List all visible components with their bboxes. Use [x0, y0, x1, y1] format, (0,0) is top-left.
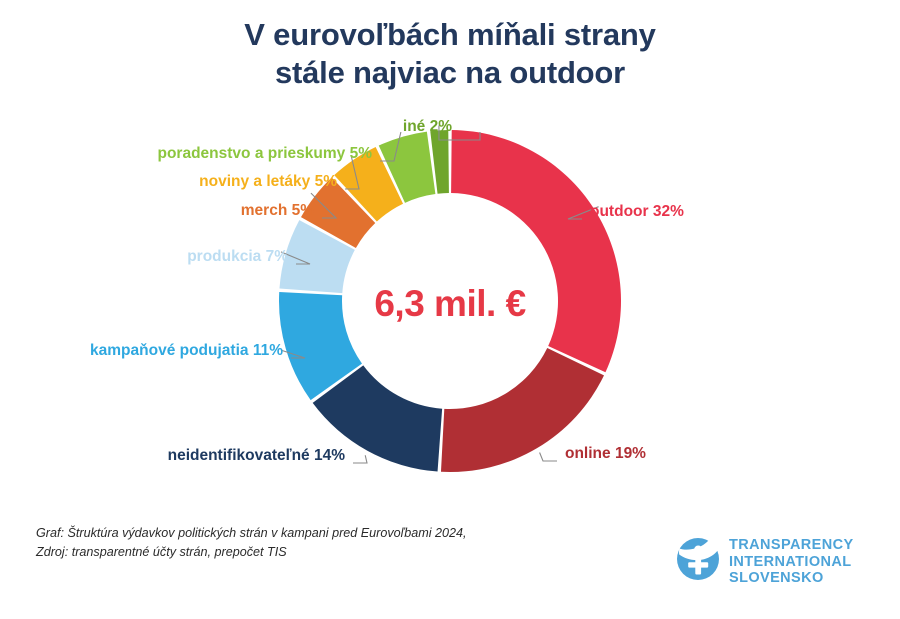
leader-line — [540, 452, 557, 461]
logo-line-2: INTERNATIONAL — [729, 554, 854, 571]
globe-person-icon — [676, 537, 720, 586]
slice-label-outdoor: outdoor 32% — [590, 204, 684, 220]
slice-label-noviny-a-letaky: noviny a letáky 5% — [0, 174, 337, 190]
organization-logo-text: TRANSPARENCY INTERNATIONAL SLOVENSKO — [729, 537, 854, 587]
page-title: V eurovoľbách míňali strany stále najvia… — [0, 16, 900, 92]
title-line-1: V eurovoľbách míňali strany — [0, 16, 900, 54]
source-note: Graf: Štruktúra výdavkov politických str… — [36, 524, 467, 562]
slice-label-poradenstvo-a-prieskumy: poradenstvo a prieskumy 5% — [0, 146, 372, 162]
slice-label-online: online 19% — [565, 446, 646, 462]
source-note-line-2: Zdroj: transparentné účty strán, prepoče… — [36, 543, 467, 562]
organization-logo: TRANSPARENCY INTERNATIONAL SLOVENSKO — [676, 537, 854, 587]
title-line-2: stále najviac na outdoor — [0, 54, 900, 92]
donut-slice — [451, 130, 621, 372]
infographic-page: V eurovoľbách míňali strany stále najvia… — [0, 0, 900, 619]
slice-label-merch: merch 5% — [0, 203, 314, 219]
slice-label-kampanove-podujatia: kampaňové podujatia 11% — [0, 343, 283, 359]
logo-line-3: SLOVENSKO — [729, 570, 854, 587]
source-note-line-1: Graf: Štruktúra výdavkov politických str… — [36, 524, 467, 543]
slice-label-ine: iné 2% — [0, 119, 452, 135]
leader-line — [353, 455, 367, 463]
slice-label-produkcia: produkcia 7% — [0, 249, 288, 265]
slice-label-neidentifikovatelne: neidentifikovateľné 14% — [0, 448, 345, 464]
logo-line-1: TRANSPARENCY — [729, 537, 854, 554]
center-total-value: 6,3 mil. € — [330, 283, 570, 325]
